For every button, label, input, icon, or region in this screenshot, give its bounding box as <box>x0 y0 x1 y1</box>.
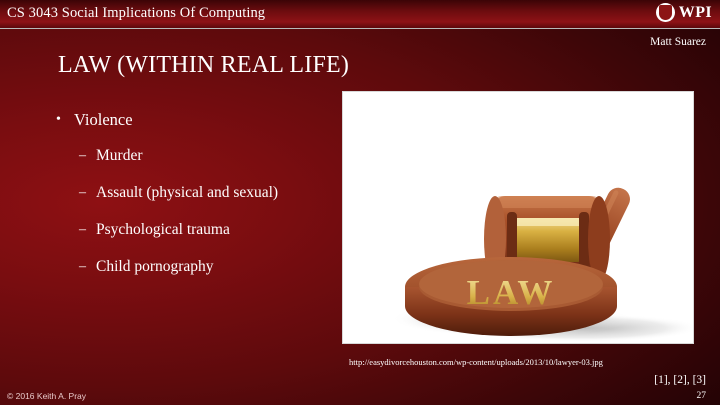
bullet-text: Assault (physical and sexual) <box>96 183 278 202</box>
list-item: – Child pornography <box>79 257 326 276</box>
law-engraving: LAW <box>467 273 556 312</box>
bullet-list: • Violence – Murder – Assault (physical … <box>56 110 326 294</box>
page-title: LAW (WITHIN REAL LIFE) <box>58 52 349 79</box>
author-name: Matt Suarez <box>650 36 706 48</box>
copyright-notice: © 2016 Keith A. Pray <box>7 391 86 401</box>
page-number: 27 <box>697 391 707 401</box>
bullet-text: Psychological trauma <box>96 220 230 239</box>
bullet-marker: • <box>56 110 74 129</box>
list-item: • Violence <box>56 110 326 130</box>
slide-header-bar: CS 3043 Social Implications Of Computing… <box>0 0 720 29</box>
list-item: – Assault (physical and sexual) <box>79 183 326 202</box>
bullet-marker: – <box>79 220 96 239</box>
image-credit: http://easydivorcehouston.com/wp-content… <box>349 357 649 367</box>
gavel-illustration: LAW <box>343 92 693 343</box>
references: [1], [2], [3] <box>654 374 706 386</box>
bullet-marker: – <box>79 183 96 202</box>
course-title: CS 3043 Social Implications Of Computing <box>7 5 265 22</box>
gavel-photo: LAW <box>342 91 694 344</box>
wpi-shield-icon <box>656 3 675 22</box>
wpi-logo: WPI <box>656 3 712 22</box>
wpi-logo-text: WPI <box>679 4 712 22</box>
bullet-marker: – <box>79 146 96 165</box>
list-item: – Psychological trauma <box>79 220 326 239</box>
bullet-marker: – <box>79 257 96 276</box>
slide-canvas: CS 3043 Social Implications Of Computing… <box>0 0 720 405</box>
bullet-text: Murder <box>96 146 143 165</box>
list-item: – Murder <box>79 146 326 165</box>
bullet-text: Violence <box>74 110 133 130</box>
bullet-text: Child pornography <box>96 257 214 276</box>
